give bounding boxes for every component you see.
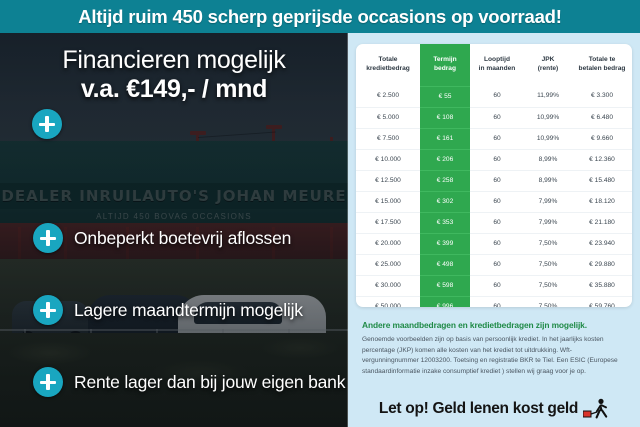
cell-krediet: € 10.000 [356,150,420,171]
headline-line-2: v.a. €149,- / mnd [0,75,348,104]
cell-jkp: 7,50% [524,297,572,308]
cell-jkp: 7,50% [524,234,572,255]
cell-termijn: € 399 [420,234,470,255]
benefit-item-1: Onbeperkt boetevrij aflossen [33,223,291,253]
column-header-krediet: Totale kredietbedrag [356,44,420,87]
legal-warning-bar: Let op! Geld lenen kost geld [348,391,640,427]
cell-termijn: € 498 [420,255,470,276]
cell-termijn: € 996 [420,297,470,308]
header-line-2: (rente) [538,65,559,72]
headline-line-1: Financieren mogelijk [0,47,348,73]
legal-warning-text: Let op! Geld lenen kost geld [379,400,578,418]
header-line-1: JPK [542,56,555,63]
cell-looptijd: 60 [470,276,524,297]
table-row: € 12.500€ 258608,99%€ 15.480 [356,171,632,192]
money-costs-money-icon [583,398,609,420]
cell-looptijd: 60 [470,108,524,129]
header-line-1: Totale te [589,56,616,63]
top-headline-text: Altijd ruim 450 scherp geprijsde occasio… [78,6,562,28]
cell-krediet: € 30.000 [356,276,420,297]
dealership-photo-panel: DEALER INRUILAUTO'S JOHAN MEURE ALTIJD 4… [0,33,348,427]
cell-jkp: 7,50% [524,276,572,297]
cell-krediet: € 5.000 [356,108,420,129]
cell-totaal: € 18.120 [572,192,632,213]
header-line-1: Totale [379,56,398,63]
cell-totaal: € 12.360 [572,150,632,171]
cell-looptijd: 60 [470,171,524,192]
cell-jkp: 8,99% [524,150,572,171]
cell-termijn: € 598 [420,276,470,297]
note-body: Genoemde voorbeelden zijn op basis van p… [362,335,628,378]
financing-rate-table: Totale kredietbedrag Termijn bedrag Loop… [356,44,632,307]
column-header-looptijd: Looptijd in maanden [470,44,524,87]
cell-jkp: 7,99% [524,213,572,234]
cell-looptijd: 60 [470,87,524,108]
cell-krediet: € 50.000 [356,297,420,308]
column-header-jkp: JPK (rente) [524,44,572,87]
table-row: € 2.500€ 556011,99%€ 3.300 [356,87,632,108]
cell-krediet: € 20.000 [356,234,420,255]
table-row: € 5.000€ 1086010,99%€ 6.480 [356,108,632,129]
cell-termijn: € 258 [420,171,470,192]
cell-totaal: € 21.180 [572,213,632,234]
header-line-2: betalen bedrag [579,65,626,72]
cell-jkp: 10,99% [524,108,572,129]
headline-block: Financieren mogelijk v.a. €149,- / mnd [0,47,348,104]
header-line-1: Termijn [433,56,456,63]
cell-jkp: 11,99% [524,87,572,108]
header-line-2: kredietbedrag [366,65,410,72]
table-row: € 20.000€ 399607,50%€ 23.940 [356,234,632,255]
cell-totaal: € 3.300 [572,87,632,108]
cell-jkp: 7,99% [524,192,572,213]
cell-krediet: € 25.000 [356,255,420,276]
cell-termijn: € 302 [420,192,470,213]
benefit-label: Onbeperkt boetevrij aflossen [74,228,291,249]
cell-totaal: € 15.480 [572,171,632,192]
cell-krediet: € 2.500 [356,87,420,108]
cell-termijn: € 108 [420,108,470,129]
cell-totaal: € 9.660 [572,129,632,150]
table-row: € 50.000€ 996607,50%€ 59.760 [356,297,632,308]
table-row: € 7.500€ 1616010,99%€ 9.660 [356,129,632,150]
plus-icon [33,367,63,397]
cell-krediet: € 12.500 [356,171,420,192]
benefit-label: Lagere maandtermijn mogelijk [74,300,303,321]
cell-totaal: € 35.880 [572,276,632,297]
header-line-2: in maanden [479,65,516,72]
cell-krediet: € 7.500 [356,129,420,150]
header-line-1: Looptijd [484,56,510,63]
cell-looptijd: 60 [470,297,524,308]
cell-jkp: 7,50% [524,255,572,276]
note-title: Andere maandbedragen en kredietbedragen … [362,320,626,330]
rate-table-container: Totale kredietbedrag Termijn bedrag Loop… [356,44,632,307]
cell-totaal: € 6.480 [572,108,632,129]
benefit-item-2: Lagere maandtermijn mogelijk [33,295,303,325]
table-header-row: Totale kredietbedrag Termijn bedrag Loop… [356,44,632,87]
plus-icon [33,223,63,253]
table-body: € 2.500€ 556011,99%€ 3.300€ 5.000€ 10860… [356,87,632,308]
cell-jkp: 10,99% [524,129,572,150]
benefit-item-3: Rente lager dan bij jouw eigen bank [33,367,345,397]
cell-looptijd: 60 [470,192,524,213]
column-header-termijn: Termijn bedrag [420,44,470,87]
top-headline-bar: Altijd ruim 450 scherp geprijsde occasio… [0,0,640,33]
left-copy-layer: Financieren mogelijk v.a. €149,- / mnd O… [0,33,348,427]
cell-looptijd: 60 [470,213,524,234]
plus-icon [32,109,62,139]
cell-totaal: € 23.940 [572,234,632,255]
cell-looptijd: 60 [470,129,524,150]
cell-krediet: € 17.500 [356,213,420,234]
plus-icon [33,295,63,325]
cell-looptijd: 60 [470,150,524,171]
table-row: € 17.500€ 353607,99%€ 21.180 [356,213,632,234]
cell-termijn: € 353 [420,213,470,234]
cell-termijn: € 55 [420,87,470,108]
column-header-totaal: Totale te betalen bedrag [572,44,632,87]
cell-termijn: € 206 [420,150,470,171]
cell-krediet: € 15.000 [356,192,420,213]
cell-looptijd: 60 [470,234,524,255]
cell-totaal: € 29.880 [572,255,632,276]
benefit-label: Rente lager dan bij jouw eigen bank [74,372,345,393]
table-row: € 25.000€ 498607,50%€ 29.880 [356,255,632,276]
cell-termijn: € 161 [420,129,470,150]
cell-jkp: 8,99% [524,171,572,192]
cell-totaal: € 59.760 [572,297,632,308]
financing-banner: Altijd ruim 450 scherp geprijsde occasio… [0,0,640,427]
cell-looptijd: 60 [470,255,524,276]
table-row: € 10.000€ 206608,99%€ 12.360 [356,150,632,171]
financing-table-card: Totale kredietbedrag Termijn bedrag Loop… [348,33,640,427]
header-line-2: bedrag [434,65,456,72]
table-row: € 30.000€ 598607,50%€ 35.880 [356,276,632,297]
table-row: € 15.000€ 302607,99%€ 18.120 [356,192,632,213]
